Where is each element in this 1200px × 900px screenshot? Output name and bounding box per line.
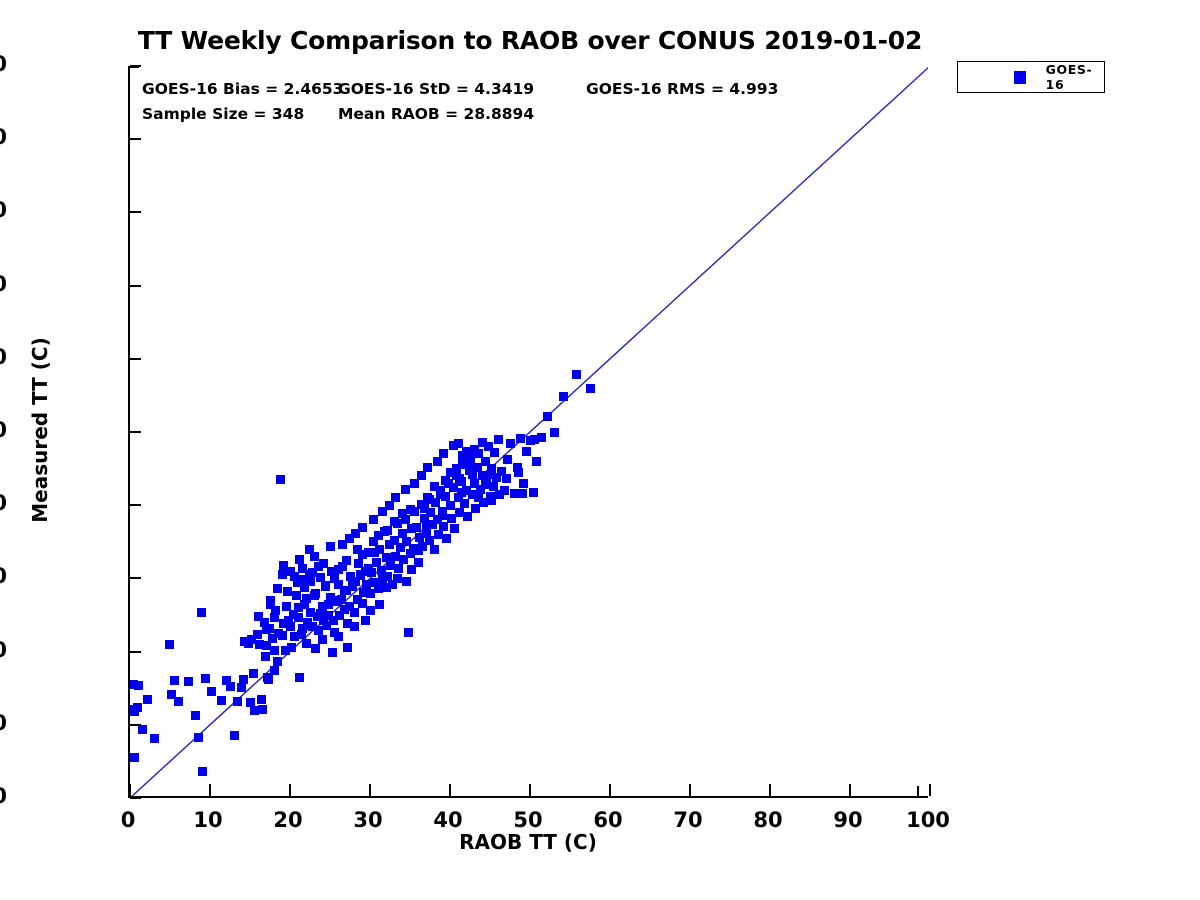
scatter-point	[226, 682, 235, 691]
x-axis-tick	[289, 784, 291, 796]
scatter-point	[302, 639, 311, 648]
x-axis-tick-label: 50	[488, 808, 568, 832]
scatter-point	[559, 392, 568, 401]
scatter-point	[375, 600, 384, 609]
scatter-point	[305, 545, 314, 554]
scatter-point	[319, 559, 328, 568]
scatter-point	[425, 495, 434, 504]
scatter-point	[412, 523, 421, 532]
scatter-point	[390, 517, 399, 526]
x-axis-tick-label: 0	[88, 808, 168, 832]
scatter-point	[138, 725, 147, 734]
scatter-point	[254, 612, 263, 621]
scatter-point	[370, 548, 379, 557]
scatter-point	[543, 412, 552, 421]
scatter-point	[278, 631, 287, 640]
scatter-point	[303, 621, 312, 630]
y-axis-tick	[130, 358, 141, 360]
x-axis-tick-label: 70	[648, 808, 728, 832]
scatter-point	[430, 545, 439, 554]
scatter-point	[465, 460, 474, 469]
scatter-point	[150, 734, 159, 743]
scatter-point	[290, 572, 299, 581]
x-axis-tick-label: 60	[568, 808, 648, 832]
x-axis-tick	[609, 784, 611, 796]
scatter-point	[439, 522, 448, 531]
y-axis-tick	[130, 65, 141, 67]
y-axis-tick	[130, 431, 141, 433]
x-axis-tick	[129, 784, 131, 796]
scatter-point	[237, 683, 246, 692]
scatter-point	[197, 608, 206, 617]
y-axis-tick-label: 10	[0, 711, 7, 735]
scatter-point	[495, 490, 504, 499]
y-axis-tick-label: 30	[0, 564, 7, 588]
scatter-point	[514, 468, 523, 477]
scatter-point	[261, 652, 270, 661]
scatter-point	[342, 556, 351, 565]
x-axis-tick	[449, 784, 451, 796]
scatter-point	[532, 457, 541, 466]
x-axis-tick-label: 100	[888, 808, 968, 832]
scatter-point	[273, 584, 282, 593]
scatter-point	[394, 564, 403, 573]
y-axis-tick-label: 0	[0, 784, 7, 808]
y-axis-tick-label: 40	[0, 491, 7, 515]
x-axis-tick-label: 30	[328, 808, 408, 832]
y-axis-tick	[130, 724, 141, 726]
scatter-point	[298, 564, 307, 573]
scatter-point	[385, 501, 394, 510]
y-axis-tick-label: 90	[0, 125, 7, 149]
scatter-point	[207, 687, 216, 696]
scatter-point	[253, 630, 262, 639]
y-axis-tick-label: 100	[0, 52, 7, 76]
scatter-point	[201, 674, 210, 683]
scatter-point	[358, 599, 367, 608]
y-axis-tick	[130, 577, 141, 579]
scatter-point	[295, 555, 304, 564]
y-axis-tick-label: 70	[0, 272, 7, 296]
scatter-point	[364, 564, 373, 573]
scatter-point	[143, 695, 152, 704]
scatter-point	[550, 428, 559, 437]
scatter-point	[502, 474, 511, 483]
scatter-point	[184, 677, 193, 686]
plot-frame	[128, 66, 928, 798]
scatter-point	[350, 622, 359, 631]
scatter-point	[402, 577, 411, 586]
scatter-point	[233, 697, 242, 706]
scatter-point	[522, 447, 531, 456]
scatter-point	[258, 705, 267, 714]
scatter-point	[383, 526, 392, 535]
legend-swatch-goes16	[1014, 71, 1026, 84]
scatter-point	[423, 463, 432, 472]
scatter-point	[478, 438, 487, 447]
scatter-point	[276, 475, 285, 484]
scatter-point	[393, 574, 402, 583]
scatter-point	[270, 666, 279, 675]
scatter-point	[369, 515, 378, 524]
scatter-point	[462, 447, 471, 456]
scatter-point	[503, 455, 512, 464]
scatter-point	[422, 521, 431, 530]
scatter-point	[420, 504, 429, 513]
scatter-point	[353, 545, 362, 554]
scatter-point	[264, 675, 273, 684]
scatter-point	[321, 581, 330, 590]
scatter-point	[490, 448, 499, 457]
scatter-point	[452, 464, 461, 473]
scatter-point	[486, 470, 495, 479]
scatter-point	[332, 596, 341, 605]
scatter-point	[361, 616, 370, 625]
scatter-point	[530, 435, 539, 444]
y-axis-tick	[130, 504, 141, 506]
x-axis-tick	[369, 784, 371, 796]
scatter-point	[468, 470, 477, 479]
scatter-point	[297, 630, 306, 639]
scatter-point	[257, 695, 266, 704]
scatter-point	[358, 523, 367, 532]
scatter-point	[239, 675, 248, 684]
scatter-point	[191, 711, 200, 720]
y-axis-tick	[130, 138, 141, 140]
scatter-point	[439, 449, 448, 458]
legend-label-goes16: GOES-16	[1046, 62, 1104, 92]
scatter-point	[270, 613, 279, 622]
scatter-point	[442, 534, 451, 543]
y-axis-tick	[130, 211, 141, 213]
scatter-point	[516, 434, 525, 443]
scatter-point	[306, 577, 315, 586]
x-axis-tick	[769, 784, 771, 796]
scatter-point	[343, 643, 352, 652]
scatter-point	[174, 697, 183, 706]
scatter-point	[279, 561, 288, 570]
scatter-point	[425, 536, 434, 545]
one-to-one-reference-line	[130, 66, 928, 796]
scatter-point	[529, 488, 538, 497]
scatter-point	[519, 479, 528, 488]
scatter-point	[474, 493, 483, 502]
plot-area	[130, 66, 928, 796]
scatter-point	[316, 609, 325, 618]
scatter-point	[391, 493, 400, 502]
scatter-point	[460, 499, 469, 508]
scatter-point	[194, 733, 203, 742]
scatter-point	[350, 608, 359, 617]
scatter-point	[366, 606, 375, 615]
scatter-point	[436, 490, 445, 499]
x-axis-tick	[209, 784, 211, 796]
scatter-point	[295, 673, 304, 682]
x-axis-tick-label: 20	[248, 808, 328, 832]
scatter-point	[518, 489, 527, 498]
scatter-point	[134, 681, 143, 690]
scatter-point	[273, 657, 282, 666]
x-axis-tick-label: 90	[808, 808, 888, 832]
scatter-point	[270, 646, 279, 655]
scatter-point	[330, 574, 339, 583]
scatter-point	[457, 488, 466, 497]
scatter-point	[311, 589, 320, 598]
scatter-point	[318, 635, 327, 644]
scatter-point	[326, 542, 335, 551]
scatter-point	[586, 384, 595, 393]
x-axis-tick	[849, 784, 851, 796]
scatter-point	[217, 696, 226, 705]
scatter-point	[455, 474, 464, 483]
scatter-point	[262, 625, 271, 634]
y-axis-tick-label: 50	[0, 418, 7, 442]
scatter-point	[328, 648, 337, 657]
x-axis-tick	[689, 784, 691, 796]
scatter-point	[334, 632, 343, 641]
scatter-point	[404, 628, 413, 637]
y-axis-tick-label: 60	[0, 345, 7, 369]
scatter-point	[324, 600, 333, 609]
scatter-point	[266, 596, 275, 605]
scatter-point	[294, 613, 303, 622]
scatter-point	[165, 640, 174, 649]
scatter-point	[572, 370, 581, 379]
scatter-point	[340, 586, 349, 595]
scatter-point	[406, 505, 415, 514]
scatter-point	[130, 753, 139, 762]
y-axis-tick	[130, 285, 141, 287]
scatter-point	[401, 485, 410, 494]
scatter-point	[463, 512, 472, 521]
x-axis-tick	[529, 784, 531, 796]
scatter-point	[417, 471, 426, 480]
x-axis-tick-label: 10	[168, 808, 248, 832]
scatter-point	[286, 622, 295, 631]
scatter-point	[348, 580, 357, 589]
scatter-point	[334, 565, 343, 574]
scatter-point	[374, 531, 383, 540]
chart-legend: GOES-16	[957, 61, 1105, 93]
scatter-point	[438, 511, 447, 520]
x-axis-tick-label: 80	[728, 808, 808, 832]
scatter-point	[382, 583, 391, 592]
scatter-point	[414, 558, 423, 567]
scatter-point	[454, 439, 463, 448]
scatter-point	[433, 457, 442, 466]
scatter-point	[450, 524, 459, 533]
scatter-point	[494, 435, 503, 444]
scatter-point	[294, 603, 303, 612]
x-axis-tick	[929, 784, 931, 796]
scatter-point	[481, 480, 490, 489]
scatter-point	[230, 731, 239, 740]
scatter-point	[311, 644, 320, 653]
y-axis-tick	[130, 651, 141, 653]
y-axis-tick-label: 20	[0, 638, 7, 662]
x-axis-label: RAOB TT (C)	[128, 830, 928, 854]
scatter-point	[302, 594, 311, 603]
scatter-point	[430, 482, 439, 491]
y-axis-label: Measured TT (C)	[28, 280, 52, 580]
scatter-point	[356, 570, 365, 579]
scatter-point	[489, 482, 498, 491]
y-axis-tick-label: 80	[0, 198, 7, 222]
scatter-point	[133, 703, 142, 712]
scatter-point	[292, 591, 301, 600]
chart-title: TT Weekly Comparison to RAOB over CONUS …	[0, 26, 1060, 55]
scatter-point	[198, 767, 207, 776]
x-axis-tick-label: 40	[408, 808, 488, 832]
y-axis-tick	[130, 797, 141, 799]
scatter-point	[287, 643, 296, 652]
scatter-point	[506, 439, 515, 448]
scatter-point	[283, 587, 292, 596]
scatter-point	[170, 676, 179, 685]
scatter-point	[249, 669, 258, 678]
chart-canvas: TT Weekly Comparison to RAOB over CONUS …	[0, 0, 1200, 900]
